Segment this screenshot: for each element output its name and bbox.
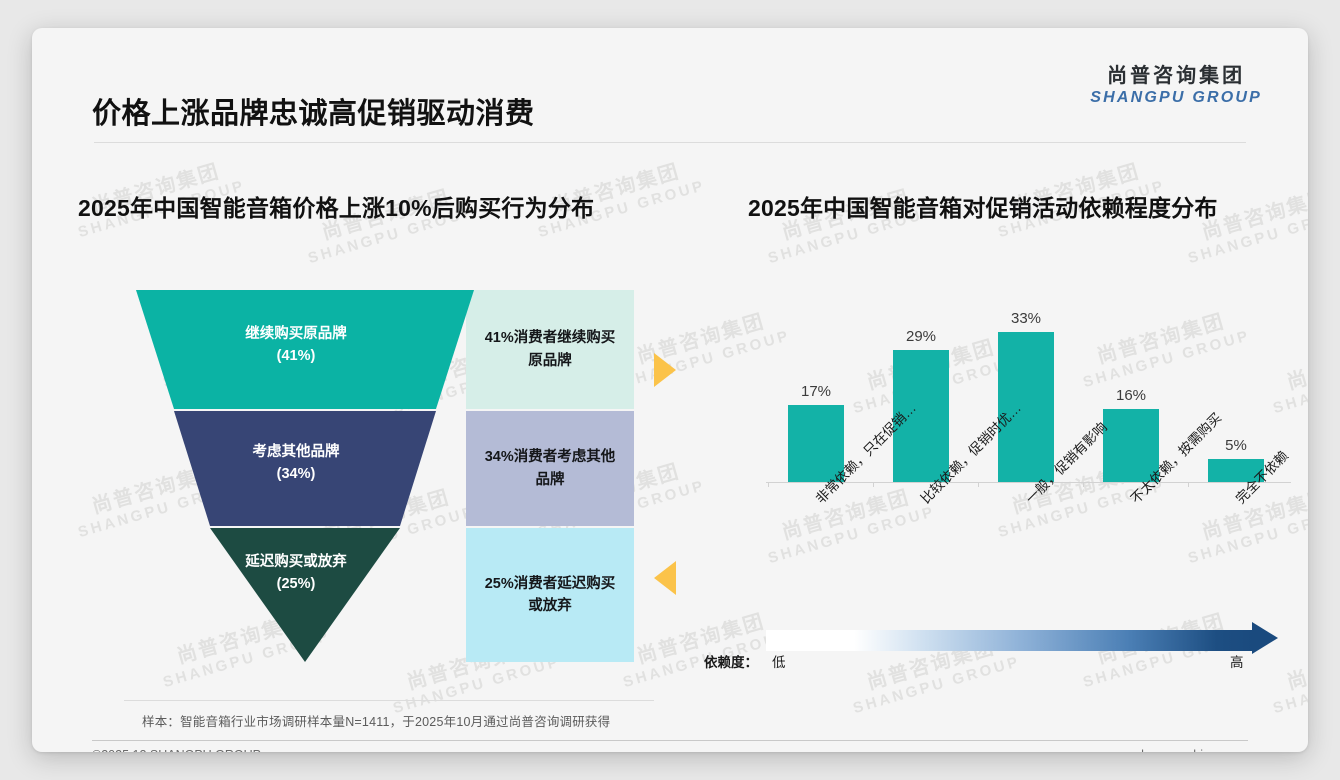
footer-divider [92,740,1248,741]
brand-logo: 尚普咨询集团 SHANGPU GROUP [1090,64,1262,108]
bar-value-4: 16% [1091,387,1171,404]
axis-tick-4 [1083,483,1084,487]
funnel-stage-3-label: 延迟购买或放弃 (25%) [156,552,436,596]
axis-tick-2 [873,483,874,487]
logo-chinese-text: 尚普咨询集团 [1090,64,1262,88]
note-divider [124,700,654,701]
bar-value-2: 29% [881,328,961,345]
watermark-text: 尚普咨询集团SHANGPU GROUP [760,481,938,567]
header-divider [94,142,1246,143]
scale-caption: 依赖度： [704,651,758,671]
funnel-stage-3-value: (25%) [156,574,436,596]
source-note: 样本：智能音箱行业市场调研样本量N=1411，于2025年10月通过尚普咨询调研… [142,711,610,730]
axis-tick-3 [978,483,979,487]
slide-card: 尚普咨询集团SHANGPU GROUP尚普咨询集团SHANGPU GROUP尚普… [32,28,1308,752]
funnel-stage-1-label: 继续购买原品牌 (41%) [156,324,436,368]
page-title: 价格上涨品牌忠诚高促销驱动消费 [92,90,535,132]
axis-tick-5 [1188,483,1189,487]
right-section-title: 2025年中国智能音箱对促销活动依赖程度分布 [748,189,1218,223]
scale-gradient-bar [766,630,1256,651]
axis-tick-1 [768,483,769,487]
arrow-right-icon [654,353,676,387]
footer-website[interactable]: www.shangpu-china.com [1105,748,1244,752]
funnel-stage-2-name: 考虑其他品牌 [156,442,436,464]
logo-english-text: SHANGPU GROUP [1090,88,1262,108]
bar-value-5: 5% [1196,437,1276,454]
scale-high-label: 高 [1230,651,1244,671]
funnel-chart: 41%消费者继续购买原品牌 34%消费者考虑其他品牌 25%消费者延迟购买或放弃… [136,290,634,662]
funnel-stage-1-value: (41%) [156,346,436,368]
left-section-title: 2025年中国智能音箱价格上涨10%后购买行为分布 [78,189,594,223]
dependency-bar-chart: 17%非常依赖，只在促销…29%比较依赖，促销时优…33%一般，促销有影响16%… [748,283,1293,483]
slide-header: 价格上涨品牌忠诚高促销驱动消费 尚普咨询集团 SHANGPU GROUP [32,28,1308,120]
funnel-stage-2-value: (34%) [156,464,436,486]
funnel-stage-2-label: 考虑其他品牌 (34%) [156,442,436,486]
footer-copyright: ©2025.12 SHANGPU GROUP [92,748,261,752]
slide-stage: 尚普咨询集团SHANGPU GROUP尚普咨询集团SHANGPU GROUP尚普… [0,0,1340,780]
scale-arrow-head-icon [1252,622,1278,654]
bar-value-1: 17% [776,383,856,400]
bar-value-3: 33% [986,310,1066,327]
scale-low-label: 低 [772,651,786,671]
funnel-stage-3-name: 延迟购买或放弃 [156,552,436,574]
dependency-scale: 依赖度： 低 高 [704,624,1284,674]
arrow-left-icon [654,561,676,595]
funnel-stage-1-name: 继续购买原品牌 [156,324,436,346]
